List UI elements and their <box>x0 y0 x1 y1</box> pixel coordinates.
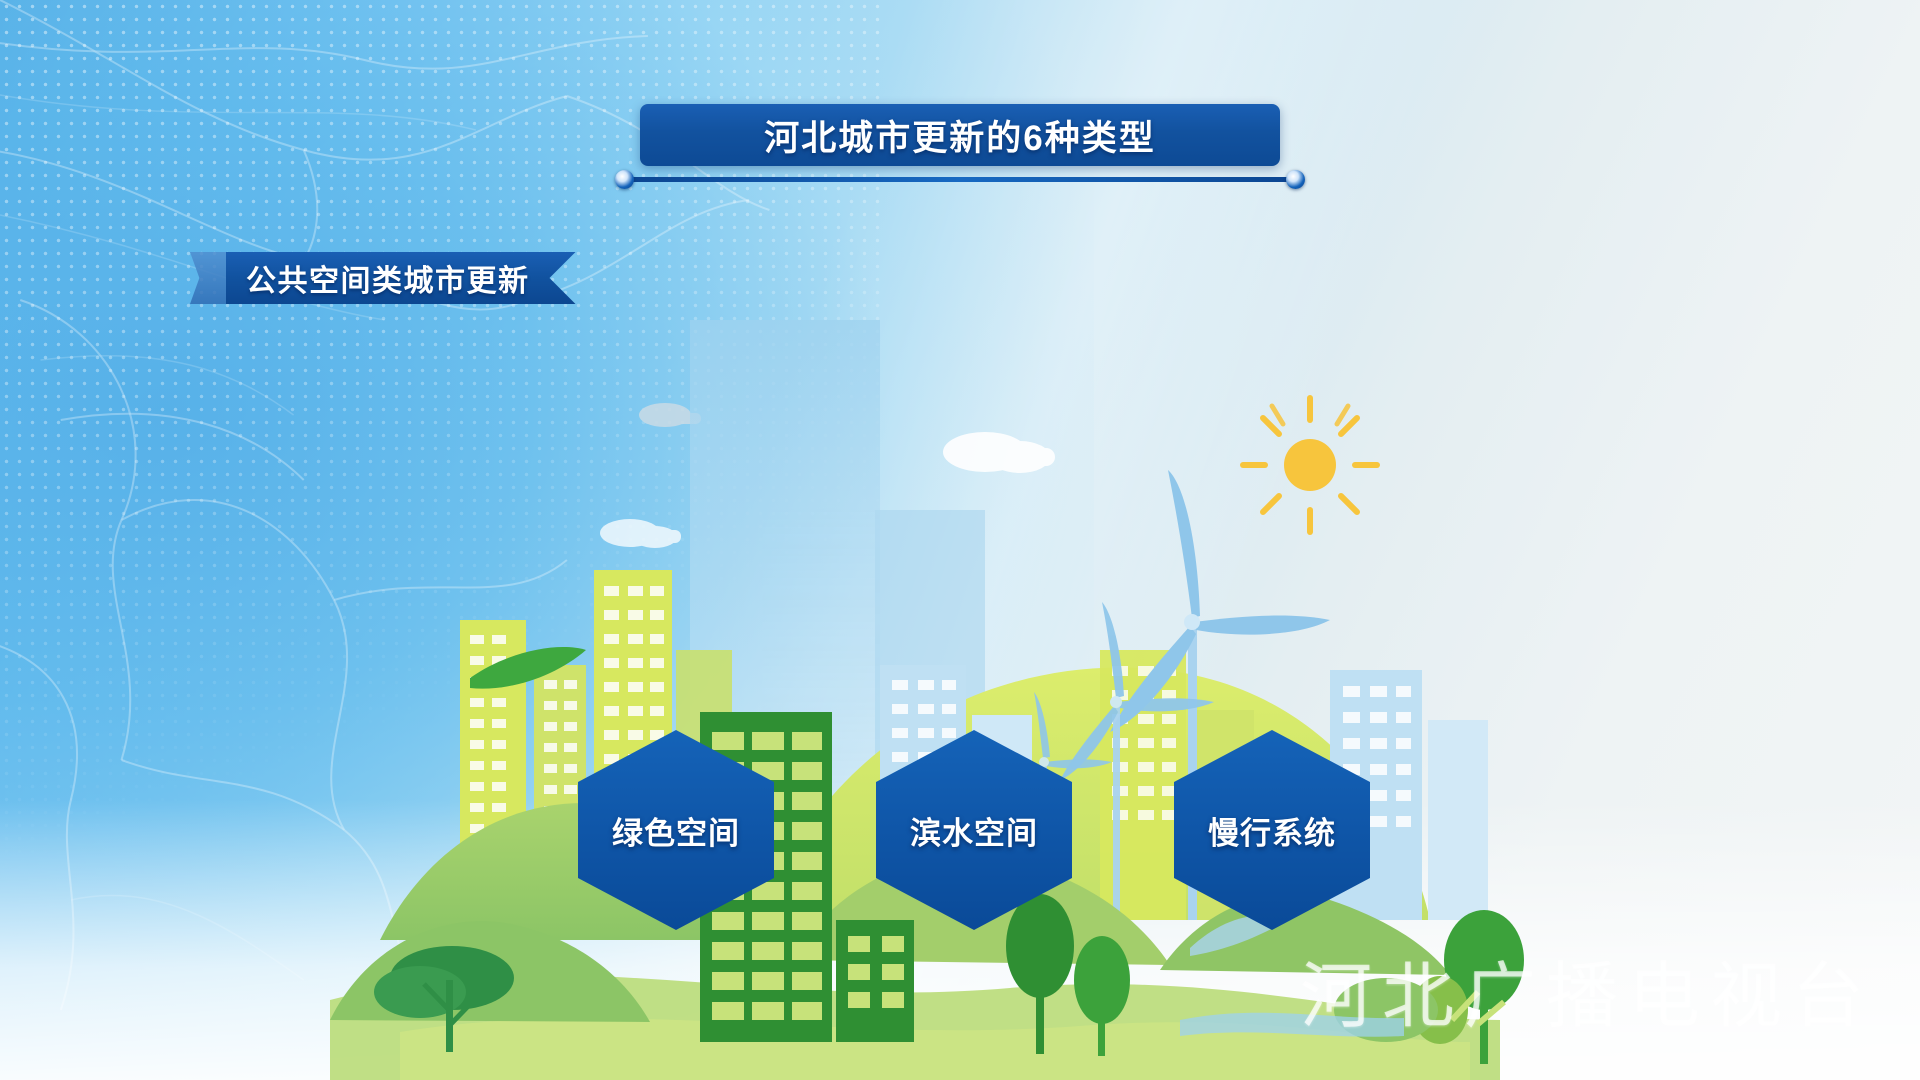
category-banner-text: 公共空间类城市更新 <box>246 256 530 300</box>
hex-label-green-space[interactable]: 绿色空间 <box>578 730 774 930</box>
green-building-small <box>836 920 914 1042</box>
hex-label-text: 慢行系统 <box>1208 808 1336 853</box>
hex-label-text: 绿色空间 <box>612 808 740 853</box>
hex-label-text: 滨水空间 <box>910 808 1038 853</box>
title-underline-cap-left <box>615 170 634 189</box>
page-title: 河北城市更新的6种类型 <box>764 110 1155 161</box>
title-underline <box>615 170 1305 188</box>
hex-label-slow-traffic-system[interactable]: 慢行系统 <box>1174 730 1370 930</box>
title-underline-line <box>625 177 1295 182</box>
hex-label-group: 绿色空间 滨水空间 慢行系统 <box>0 730 1920 930</box>
category-banner-notch <box>190 252 226 304</box>
cloud-icon <box>600 519 681 548</box>
title-underline-cap-right <box>1286 170 1305 189</box>
title-block: 河北城市更新的6种类型 <box>460 104 1460 188</box>
category-banner: 公共空间类城市更新 <box>190 252 576 304</box>
category-banner-body: 公共空间类城市更新 <box>226 252 576 304</box>
sun-icon <box>1243 398 1377 532</box>
hex-label-waterfront-space[interactable]: 滨水空间 <box>876 730 1072 930</box>
broadcast-graphic: 绿色空间 滨水空间 慢行系统 公共空间类城市更新 河北城市更新的6种类型 河北广… <box>0 0 1920 1080</box>
title-bar: 河北城市更新的6种类型 <box>640 104 1280 166</box>
cloud-icon <box>943 432 1055 473</box>
station-watermark: 河北广播电视台 <box>1300 937 1874 1042</box>
